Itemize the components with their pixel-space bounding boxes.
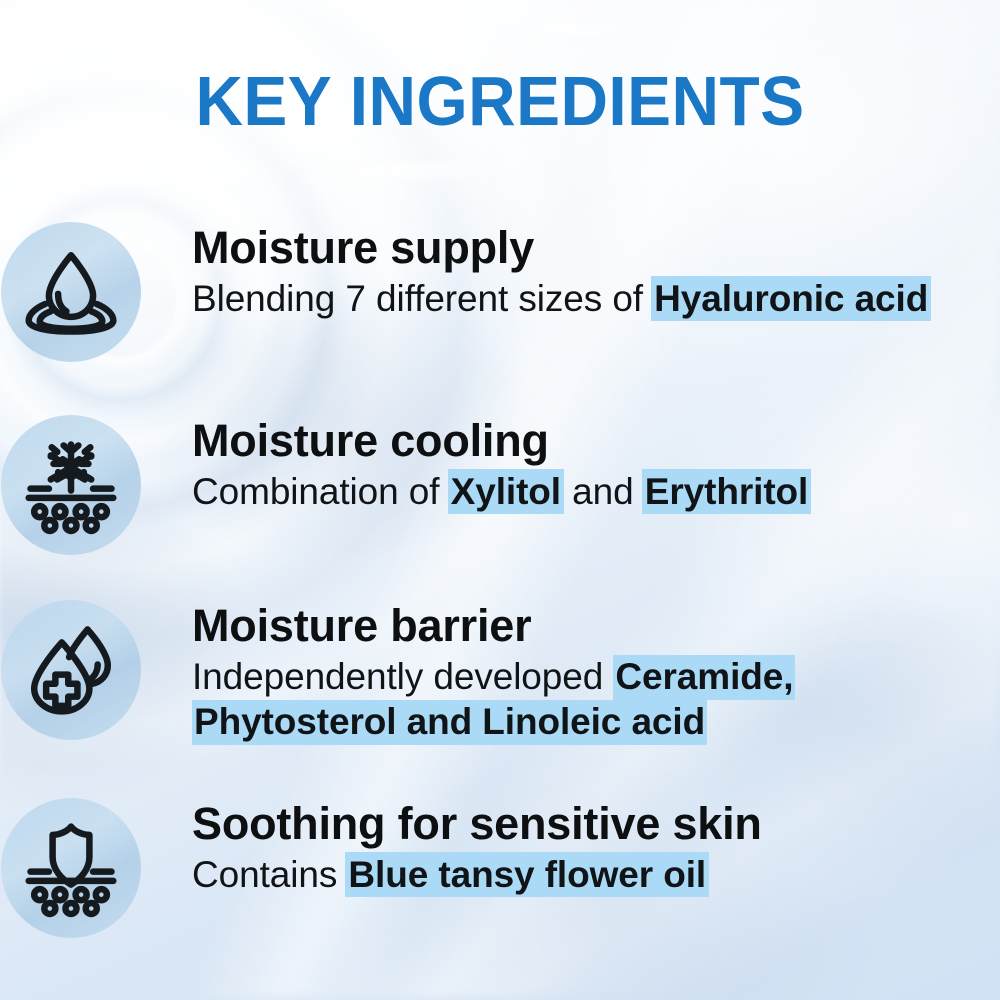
icon-circle-3	[1, 600, 141, 740]
key-ingredients-infographic: KEY INGREDIENTS Moisture su	[0, 0, 1000, 1000]
ingredient-heading: Soothing for sensitive skin	[192, 800, 1000, 848]
ingredient-description: Blending 7 different sizes of Hyaluronic…	[192, 276, 1000, 321]
ingredient-description: Combination of Xylitol and Erythritol	[192, 469, 1000, 514]
ingredient-row-moisture-barrier: Moisture barrier Independently developed…	[0, 600, 1000, 744]
desc-plain: Independently developed	[192, 656, 613, 697]
desc-plain: Contains	[192, 854, 347, 895]
desc-highlight: Blue tansy flower oil	[347, 854, 707, 895]
water-drop-ripple-icon	[25, 246, 117, 338]
icon-wrap-2	[0, 415, 142, 555]
ingredient-heading: Moisture supply	[192, 224, 1000, 272]
shield-skin-soothing-icon	[23, 822, 119, 914]
ingredient-description: Independently developed Ceramide, Phytos…	[192, 654, 852, 744]
texts-3: Moisture barrier Independently developed…	[142, 600, 1000, 744]
icon-wrap-1	[0, 222, 142, 362]
ingredient-row-moisture-cooling: Moisture cooling Combination of Xylitol …	[0, 415, 1000, 555]
snowflake-skin-cooling-icon	[23, 439, 119, 531]
icon-wrap-4	[0, 798, 142, 938]
desc-plain: Combination of	[192, 471, 450, 512]
ingredient-heading: Moisture cooling	[192, 417, 1000, 465]
texts-4: Soothing for sensitive skin Contains Blu…	[142, 798, 1000, 897]
icon-wrap-3	[0, 600, 142, 740]
desc-plain: Blending 7 different sizes of	[192, 278, 653, 319]
ingredient-description: Contains Blue tansy flower oil	[192, 852, 1000, 897]
ingredient-row-soothing: Soothing for sensitive skin Contains Blu…	[0, 798, 1000, 938]
page-title: KEY INGREDIENTS	[30, 66, 970, 136]
icon-circle-2	[1, 415, 141, 555]
texts-2: Moisture cooling Combination of Xylitol …	[142, 415, 1000, 514]
ingredient-heading: Moisture barrier	[192, 602, 1000, 650]
texts-1: Moisture supply Blending 7 different siz…	[142, 222, 1000, 321]
desc-highlight: Hyaluronic acid	[653, 278, 929, 319]
desc-plain: and	[562, 471, 644, 512]
icon-circle-4	[1, 798, 141, 938]
ingredient-row-moisture-supply: Moisture supply Blending 7 different siz…	[0, 222, 1000, 362]
desc-highlight: Xylitol	[450, 471, 562, 512]
desc-highlight: Erythritol	[644, 471, 809, 512]
icon-circle-1	[1, 222, 141, 362]
droplets-plus-barrier-icon	[24, 624, 118, 716]
